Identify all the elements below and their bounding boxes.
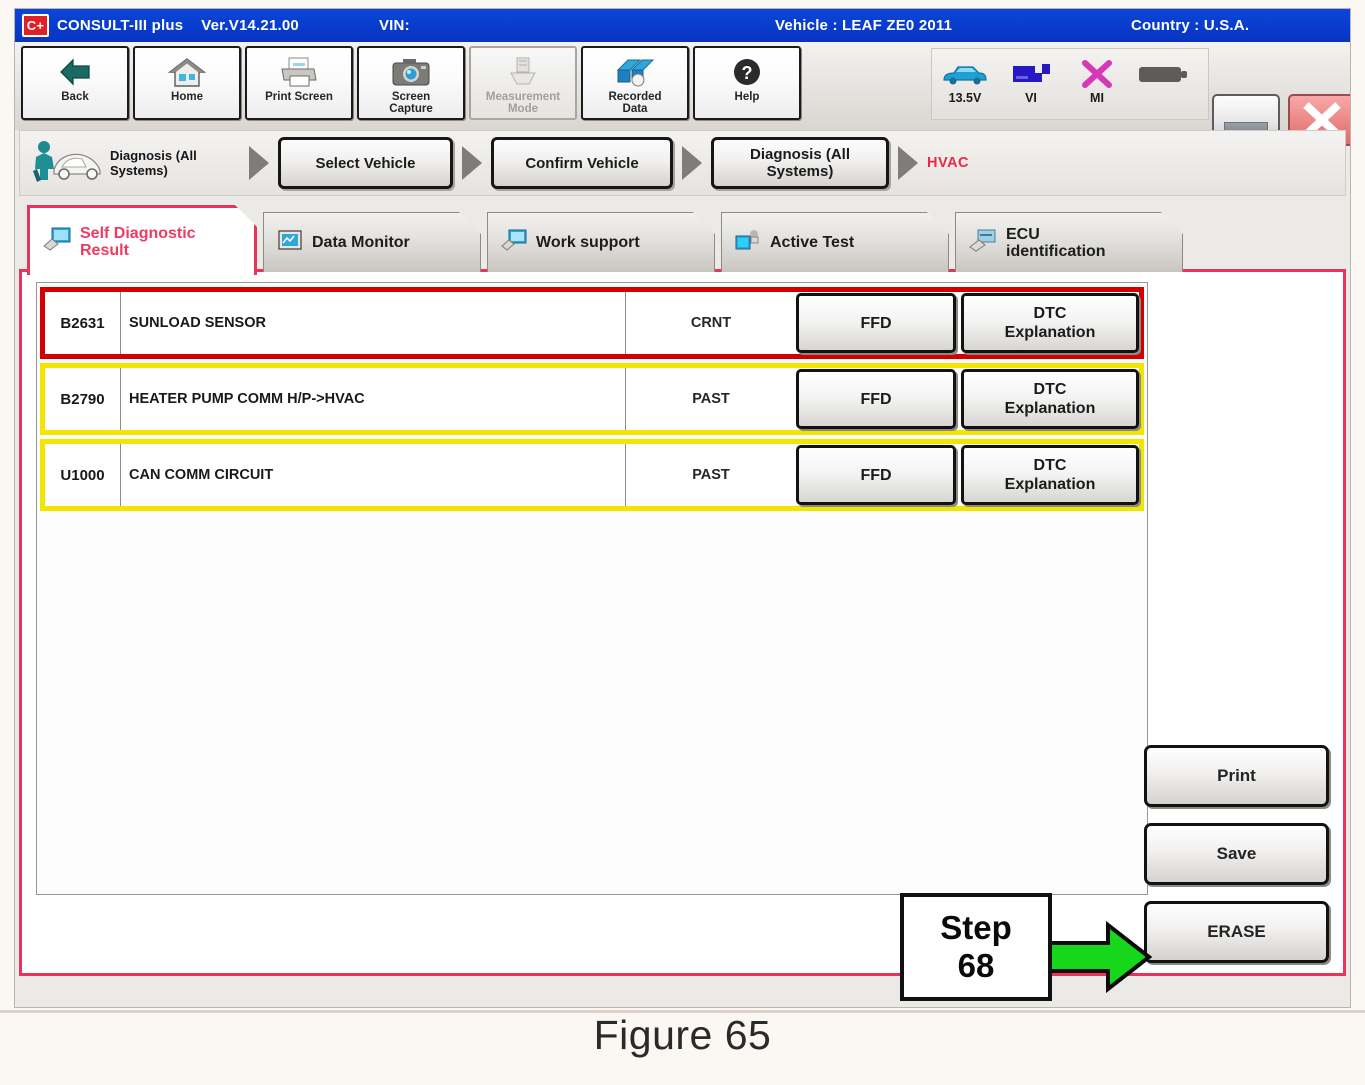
dtc-explanation-button[interactable]: DTCExplanation — [961, 445, 1139, 505]
erase-button[interactable]: ERASE — [1144, 901, 1329, 963]
battery-icon — [1137, 57, 1189, 91]
step-callout-line2: 68 — [958, 947, 995, 985]
breadcrumb-step-3-label: Diagnosis (All Systems) — [728, 146, 872, 180]
main-toolbar: Back Home — [15, 42, 1350, 130]
help-button-label: Help — [735, 91, 760, 103]
step-callout: Step 68 — [900, 893, 1052, 1001]
dtc-description: CAN COMM CIRCUIT — [121, 444, 626, 506]
side-action-buttons: Print Save ERASE — [1144, 729, 1329, 963]
breadcrumb-chevron-2 — [462, 146, 482, 180]
tab-ecu-identification[interactable]: ECUidentification — [955, 212, 1183, 272]
figure-caption: Figure 65 — [0, 1012, 1365, 1059]
voltage-indicator: 13.5V — [932, 49, 998, 119]
vehicle-label: Vehicle : LEAF ZE0 2011 — [775, 17, 952, 34]
tab-work-support[interactable]: Work support — [487, 212, 715, 272]
recorded-data-button-label: Recorded Data — [608, 91, 661, 115]
tab-data-monitor[interactable]: Data Monitor — [263, 212, 481, 272]
dtc-explanation-button[interactable]: DTCExplanation — [961, 293, 1139, 353]
step-callout-line1: Step — [940, 909, 1012, 947]
breadcrumb-step-1-label: Select Vehicle — [315, 155, 415, 172]
mi-label: MI — [1090, 91, 1104, 105]
home-button[interactable]: Home — [133, 46, 241, 120]
self-diagnostic-result-panel: B2631 SUNLOAD SENSOR CRNT FFD DTCExplana… — [19, 269, 1346, 976]
vehicle-interface-icon — [1008, 57, 1054, 91]
title-bar: C+ CONSULT-III plus Ver.V14.21.00 VIN: V… — [15, 9, 1350, 42]
tab-ecu-identification-label: ECUidentification — [1006, 226, 1136, 260]
print-screen-button-label: Print Screen — [265, 91, 333, 103]
ecu-identification-icon — [968, 227, 998, 258]
tab-self-diagnostic-result-label: Self DiagnosticResult — [80, 225, 220, 259]
svg-text:?: ? — [742, 63, 753, 83]
vin-label: VIN: — [379, 17, 410, 34]
dtc-description: HEATER PUMP COMM H/P->HVAC — [121, 368, 626, 430]
active-test-icon — [734, 228, 762, 257]
breadcrumb-step-confirm-vehicle[interactable]: Confirm Vehicle — [491, 137, 673, 189]
mi-indicator: MI — [1064, 49, 1130, 119]
home-icon — [168, 54, 206, 90]
ffd-button[interactable]: FFD — [796, 369, 956, 429]
vi-indicator: VI — [998, 49, 1064, 119]
measurement-mode-line2: Mode — [508, 103, 538, 115]
screen-capture-button-label: Screen Capture — [389, 91, 432, 115]
voltage-label: 13.5V — [949, 91, 982, 105]
breadcrumb-chevron-3 — [682, 146, 702, 180]
dtc-description: SUNLOAD SENSOR — [121, 292, 626, 354]
vi-label: VI — [1025, 91, 1037, 105]
consult-logo-icon: C+ — [22, 14, 49, 37]
dtc-status: PAST — [626, 368, 796, 430]
dtc-code: B2790 — [45, 368, 121, 430]
green-right-arrow — [1046, 921, 1152, 993]
tab-strip: Self DiagnosticResult Data Monitor — [19, 202, 1346, 272]
back-arrow-icon — [58, 54, 92, 90]
ffd-button[interactable]: FFD — [796, 445, 956, 505]
measurement-mode-button[interactable]: Measurement Mode — [469, 46, 577, 120]
content-area: Self DiagnosticResult Data Monitor — [19, 202, 1346, 976]
breadcrumb-chevron-1 — [249, 146, 269, 180]
screen-capture-line1: Screen — [392, 91, 430, 103]
consult-app-window: C+ CONSULT-III plus Ver.V14.21.00 VIN: V… — [14, 8, 1351, 1008]
measurement-mode-button-label: Measurement Mode — [486, 91, 560, 115]
data-monitor-icon — [276, 228, 304, 257]
country-label: Country : U.S.A. — [1131, 17, 1249, 34]
back-button[interactable]: Back — [21, 46, 129, 120]
app-version: Ver.V14.21.00 — [201, 17, 299, 34]
self-diagnostic-icon — [42, 226, 72, 257]
technician-car-icon — [28, 138, 104, 189]
recorded-data-line1: Recorded — [608, 91, 661, 103]
screenshot-root: C+ CONSULT-III plus Ver.V14.21.00 VIN: V… — [0, 0, 1365, 1085]
tab-active-test-label: Active Test — [770, 234, 854, 251]
current-system-label: HVAC — [927, 155, 969, 171]
dtc-explanation-button[interactable]: DTCExplanation — [961, 369, 1139, 429]
breadcrumb: Diagnosis (All Systems) Select Vehicle C… — [19, 130, 1346, 196]
recorded-data-line2: Data — [623, 103, 648, 115]
app-name: CONSULT-III plus — [57, 17, 183, 34]
home-button-label: Home — [171, 91, 203, 103]
dtc-code: U1000 — [45, 444, 121, 506]
help-icon: ? — [731, 54, 763, 90]
status-indicators: 13.5V VI — [931, 48, 1209, 120]
table-row: B2631 SUNLOAD SENSOR CRNT FFD DTCExplana… — [40, 287, 1144, 359]
measurement-icon — [505, 54, 541, 90]
recorded-data-icon — [614, 54, 656, 90]
printer-icon — [278, 54, 320, 90]
print-button[interactable]: Print — [1144, 745, 1329, 807]
breadcrumb-step-select-vehicle[interactable]: Select Vehicle — [278, 137, 453, 189]
dtc-status: CRNT — [626, 292, 796, 354]
help-button[interactable]: ? Help — [693, 46, 801, 120]
table-row: U1000 CAN COMM CIRCUIT PAST FFD DTCExpla… — [40, 439, 1144, 511]
dtc-status: PAST — [626, 444, 796, 506]
breadcrumb-step-2-label: Confirm Vehicle — [525, 155, 638, 172]
measurement-mode-line1: Measurement — [486, 91, 560, 103]
car-battery-voltage-icon — [940, 57, 990, 91]
camera-icon — [391, 54, 431, 90]
screen-capture-line2: Capture — [389, 103, 432, 115]
screen-capture-button[interactable]: Screen Capture — [357, 46, 465, 120]
tab-active-test[interactable]: Active Test — [721, 212, 949, 272]
battery-indicator — [1130, 49, 1196, 119]
print-screen-button[interactable]: Print Screen — [245, 46, 353, 120]
tab-work-support-label: Work support — [536, 234, 640, 251]
save-button[interactable]: Save — [1144, 823, 1329, 885]
tab-self-diagnostic-result[interactable]: Self DiagnosticResult — [27, 205, 257, 275]
measurement-interface-cross-icon — [1080, 57, 1114, 91]
breadcrumb-home[interactable]: Diagnosis (All Systems) — [28, 138, 240, 189]
ffd-button[interactable]: FFD — [796, 293, 956, 353]
dtc-code: B2631 — [45, 292, 121, 354]
tab-data-monitor-label: Data Monitor — [312, 234, 410, 251]
breadcrumb-home-label: Diagnosis (All Systems) — [110, 148, 240, 178]
work-support-icon — [500, 228, 528, 257]
table-row: B2790 HEATER PUMP COMM H/P->HVAC PAST FF… — [40, 363, 1144, 435]
breadcrumb-chevron-4 — [898, 146, 918, 180]
breadcrumb-step-diagnosis-all-systems[interactable]: Diagnosis (All Systems) — [711, 137, 889, 189]
recorded-data-button[interactable]: Recorded Data — [581, 46, 689, 120]
back-button-label: Back — [61, 91, 89, 103]
dtc-list: B2631 SUNLOAD SENSOR CRNT FFD DTCExplana… — [36, 282, 1148, 895]
